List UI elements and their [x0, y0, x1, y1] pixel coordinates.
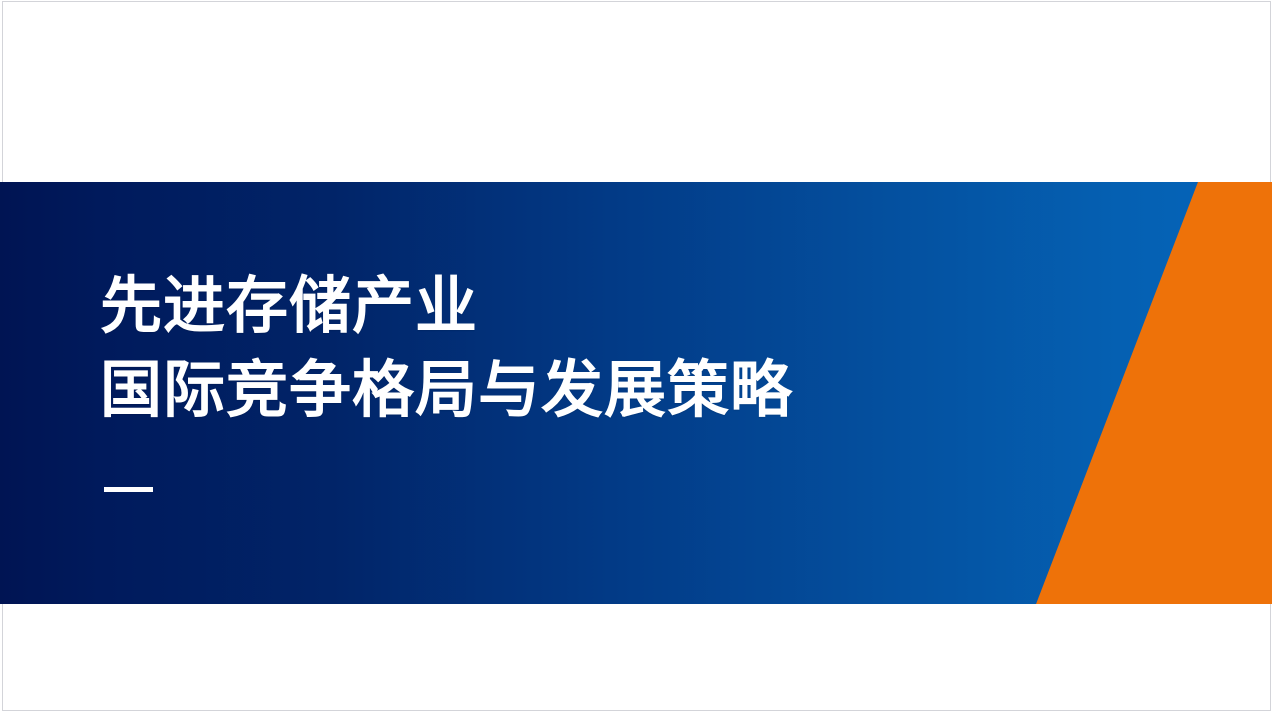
- slide-title-line-1: 先进存储产业: [100, 265, 1000, 349]
- title-accent-rule: [104, 487, 153, 492]
- slide-title-block: 先进存储产业 国际竞争格局与发展策略: [100, 265, 1000, 433]
- slide-canvas: 先进存储产业 国际竞争格局与发展策略: [0, 0, 1275, 716]
- slide-title-line-2: 国际竞争格局与发展策略: [100, 349, 1000, 433]
